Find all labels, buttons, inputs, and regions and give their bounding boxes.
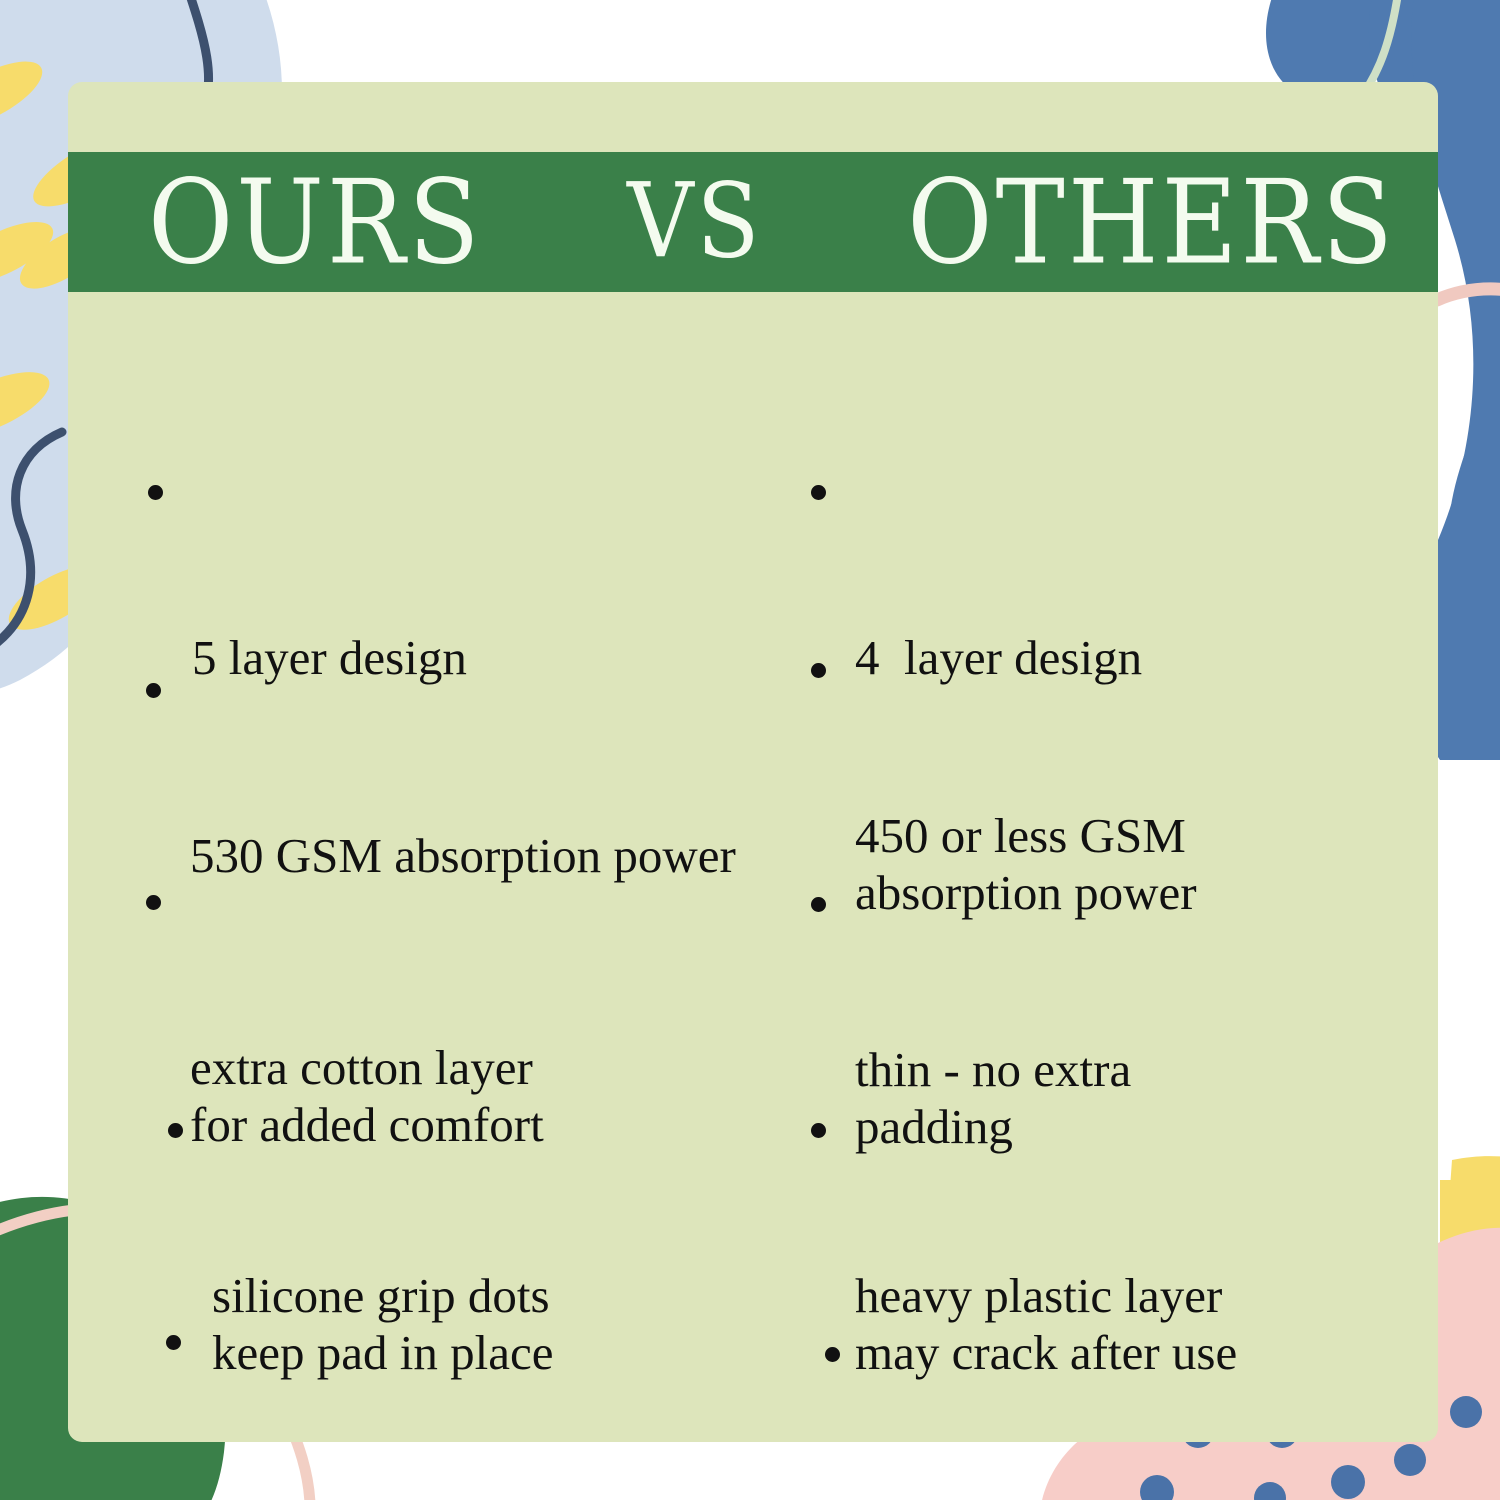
bullet-dot-icon <box>811 485 826 500</box>
ours-column: 5 layer design 530 GSM absorption power … <box>68 310 753 1442</box>
bullet-dot-icon <box>811 897 826 912</box>
bullet-dot-icon <box>811 663 826 678</box>
comparison-card: OURS VS OTHERS 5 layer design 530 GSM ab… <box>68 82 1438 1442</box>
banner-vs-label: VS <box>627 170 762 273</box>
bullet-dot-icon <box>146 683 161 698</box>
banner-others-label: OTHERS <box>907 164 1396 280</box>
list-item: custom hand drawn designs <box>166 1310 786 1442</box>
bullet-dot-icon <box>168 1123 183 1138</box>
bullet-dot-icon <box>166 1335 181 1350</box>
comparison-columns: 5 layer design 530 GSM absorption power … <box>68 310 1438 1442</box>
list-item: basic designs <box>825 1322 1438 1442</box>
bullet-dot-icon <box>146 895 161 910</box>
others-column: 4 layer design 450 or less GSM absorptio… <box>753 310 1438 1442</box>
bullet-dot-icon <box>148 485 163 500</box>
bullet-dot-icon <box>825 1347 840 1362</box>
comparison-banner: OURS VS OTHERS <box>68 152 1438 292</box>
banner-ours-label: OURS <box>148 164 482 280</box>
bullet-dot-icon <box>811 1123 826 1138</box>
